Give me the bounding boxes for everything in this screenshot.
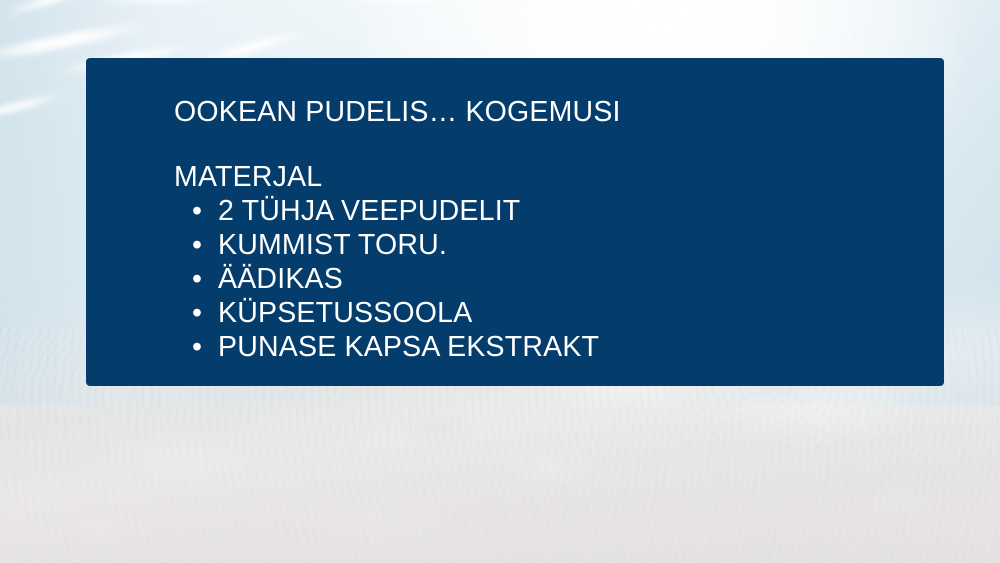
list-item-label: KÜPSETUSSOOLA: [218, 297, 472, 329]
slide: OOKEAN PUDELIS… KOGEMUSI MATERJAL • 2 TÜ…: [0, 0, 1000, 563]
materials-list: • 2 TÜHJA VEEPUDELIT • KUMMIST TORU. • Ä…: [174, 194, 914, 364]
bullet-icon: •: [192, 262, 212, 296]
list-item-label: PUNASE KAPSA EKSTRAKT: [218, 331, 599, 363]
list-item-label: KUMMIST TORU.: [218, 229, 447, 261]
bullet-icon: •: [192, 194, 212, 228]
list-item: • ÄÄDIKAS: [174, 262, 914, 296]
panel-content: OOKEAN PUDELIS… KOGEMUSI MATERJAL • 2 TÜ…: [174, 94, 914, 364]
body-block: MATERJAL • 2 TÜHJA VEEPUDELIT • KUMMIST …: [174, 160, 914, 364]
list-item: • 2 TÜHJA VEEPUDELIT: [174, 194, 914, 228]
list-item-label: ÄÄDIKAS: [218, 263, 343, 295]
list-item-label: 2 TÜHJA VEEPUDELIT: [218, 195, 520, 227]
bullet-icon: •: [192, 330, 212, 364]
bullet-icon: •: [192, 228, 212, 262]
slide-title: OOKEAN PUDELIS… KOGEMUSI: [174, 94, 914, 130]
list-item: • KÜPSETUSSOOLA: [174, 296, 914, 330]
content-panel: OOKEAN PUDELIS… KOGEMUSI MATERJAL • 2 TÜ…: [86, 58, 944, 386]
list-item: • KUMMIST TORU.: [174, 228, 914, 262]
bullet-icon: •: [192, 296, 212, 330]
materials-heading: MATERJAL: [174, 160, 914, 194]
list-item: • PUNASE KAPSA EKSTRAKT: [174, 330, 914, 364]
